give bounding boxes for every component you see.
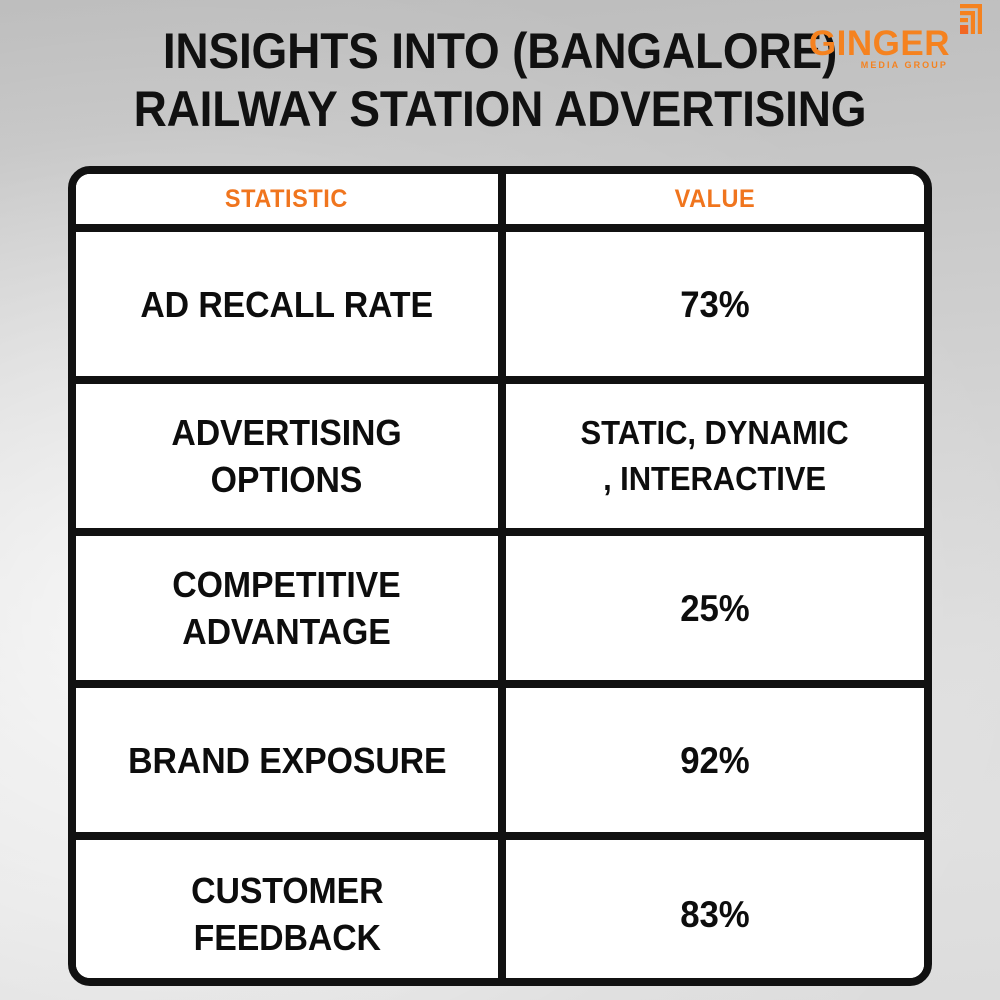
- cell-value: 73%: [502, 228, 924, 380]
- value-label: 25%: [680, 585, 749, 632]
- table-header-row: STATISTIC VALUE: [76, 174, 924, 228]
- statistics-table-container: STATISTIC VALUE AD RECALL RATE 73%: [68, 166, 932, 986]
- poster-header: INSIGHTS INTO (BANGALORE) RAILWAY STATIO…: [0, 0, 1000, 160]
- value-label: 83%: [680, 891, 749, 938]
- column-header-statistic-label: STATISTIC: [225, 185, 348, 213]
- logo-tagline: MEDIA GROUP: [861, 60, 948, 70]
- brand-logo: GINGER MEDIA GROUP: [816, 4, 984, 78]
- table-row: CUSTOMER FEEDBACK 83%: [76, 836, 924, 986]
- statistic-label: AD RECALL RATE: [141, 281, 434, 328]
- cell-statistic: ADVERTISING OPTIONS: [76, 380, 502, 532]
- cell-value: 25%: [502, 532, 924, 684]
- cell-statistic: AD RECALL RATE: [76, 228, 502, 380]
- cell-statistic: BRAND EXPOSURE: [76, 684, 502, 836]
- cell-value: STATIC, DYNAMIC , INTERACTIVE: [502, 380, 924, 532]
- column-header-value: VALUE: [502, 174, 924, 228]
- statistic-label: CUSTOMER FEEDBACK: [191, 867, 383, 961]
- value-label: 73%: [680, 281, 749, 328]
- title-line-2: RAILWAY STATION ADVERTISING: [40, 80, 960, 138]
- statistic-label: ADVERTISING OPTIONS: [172, 409, 402, 503]
- table-row: ADVERTISING OPTIONS STATIC, DYNAMIC , IN…: [76, 380, 924, 532]
- cell-value: 92%: [502, 684, 924, 836]
- table-row: AD RECALL RATE 73%: [76, 228, 924, 380]
- statistics-table: STATISTIC VALUE AD RECALL RATE 73%: [76, 174, 924, 986]
- logo-wordmark: GINGER: [809, 26, 950, 61]
- cell-statistic: CUSTOMER FEEDBACK: [76, 836, 502, 986]
- poster-canvas: INSIGHTS INTO (BANGALORE) RAILWAY STATIO…: [0, 0, 1000, 1000]
- value-label: 92%: [680, 737, 749, 784]
- table-row: COMPETITIVE ADVANTAGE 25%: [76, 532, 924, 684]
- stepped-arrow-icon: [948, 4, 982, 34]
- cell-statistic: COMPETITIVE ADVANTAGE: [76, 532, 502, 684]
- column-header-statistic: STATISTIC: [76, 174, 502, 228]
- table-body: AD RECALL RATE 73% ADVERTISING OPTIONS S…: [76, 228, 924, 986]
- table-header: STATISTIC VALUE: [76, 174, 924, 228]
- column-header-value-label: VALUE: [674, 185, 755, 213]
- statistic-label: COMPETITIVE ADVANTAGE: [173, 561, 401, 655]
- table-row: BRAND EXPOSURE 92%: [76, 684, 924, 836]
- cell-value: 83%: [502, 836, 924, 986]
- statistic-label: BRAND EXPOSURE: [128, 737, 446, 784]
- value-label: STATIC, DYNAMIC , INTERACTIVE: [581, 410, 849, 502]
